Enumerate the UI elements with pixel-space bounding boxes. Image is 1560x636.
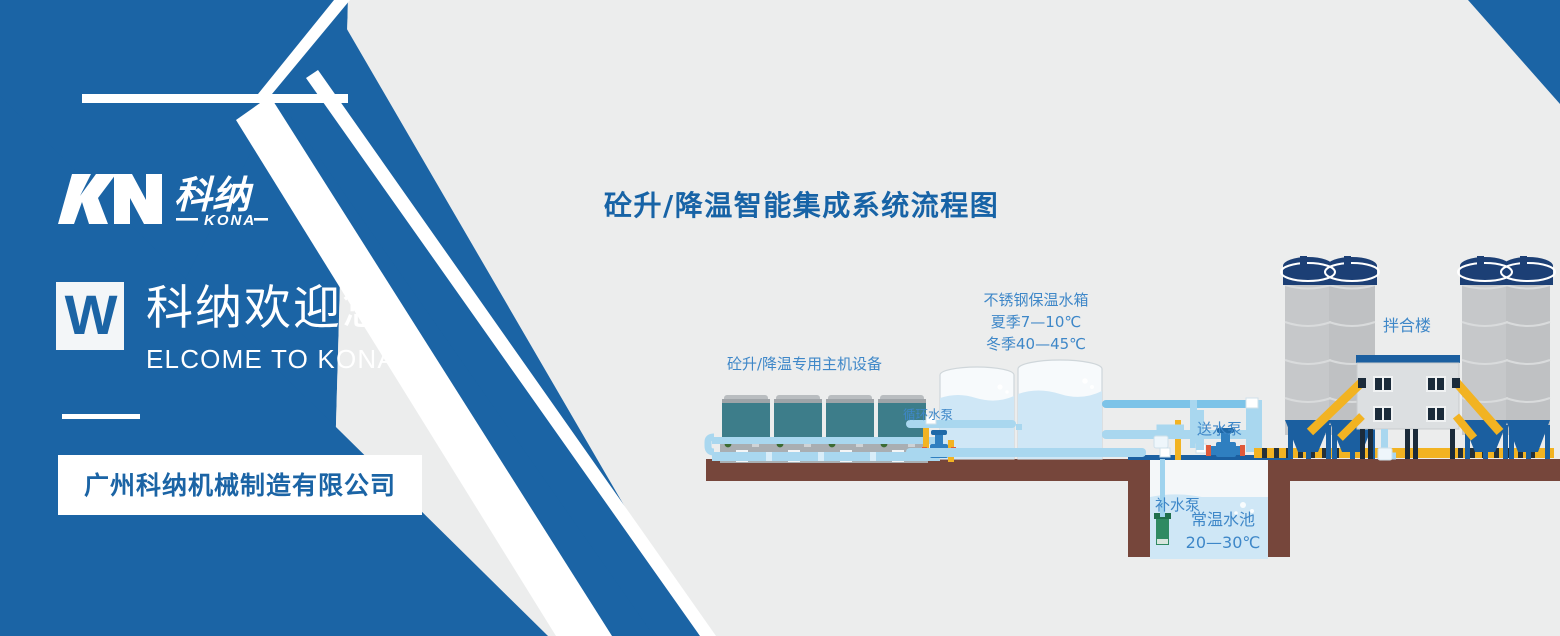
label-pool: 常温水池 20—30℃ <box>1175 508 1271 554</box>
welcome-headline-en: ELCOME TO KONA <box>146 342 396 376</box>
label-host-equipment: 砼升/降温专用主机设备 <box>727 355 882 374</box>
welcome-headline-cn: 科纳欢迎您 <box>146 282 396 336</box>
label-delivery-pump: 送水泵 <box>1197 420 1242 439</box>
company-name-text: 广州科纳机械制造有限公司 <box>84 471 396 500</box>
w-initial-box: W <box>56 282 124 350</box>
logo-cn-text: 科纳 <box>174 173 254 217</box>
label-pool-line2: 20—30℃ <box>1175 531 1271 554</box>
label-circulation-pump: 循环水泵 <box>903 405 953 424</box>
label-makeup-pump: 补水泵 <box>1155 497 1171 514</box>
label-mixing-plant: 拌合楼 <box>1383 316 1431 335</box>
kn-mark-icon <box>58 174 162 224</box>
label-water-tank-line2: 夏季7—10℃ <box>963 311 1109 333</box>
label-water-tank: 不锈钢保温水箱 夏季7—10℃ 冬季40—45℃ <box>963 289 1109 355</box>
divider-rule <box>62 414 140 419</box>
svg-text:科纳: 科纳 <box>174 173 254 217</box>
label-water-tank-line1: 不锈钢保温水箱 <box>963 289 1109 311</box>
company-name-box: 广州科纳机械制造有限公司 <box>58 455 422 515</box>
svg-text:KONA: KONA <box>204 212 256 229</box>
banner-canvas: 科纳 KONA W 科纳欢迎您 ELCOME TO KONA 广州科纳机械制造有… <box>0 0 1560 636</box>
label-pool-line1: 常温水池 <box>1175 508 1271 531</box>
diagram-title: 砼升/降温智能集成系统流程图 <box>604 184 999 224</box>
welcome-block: W 科纳欢迎您 ELCOME TO KONA <box>56 282 396 376</box>
company-logo: 科纳 KONA <box>58 168 268 230</box>
label-water-tank-line3: 冬季40—45℃ <box>963 333 1109 355</box>
